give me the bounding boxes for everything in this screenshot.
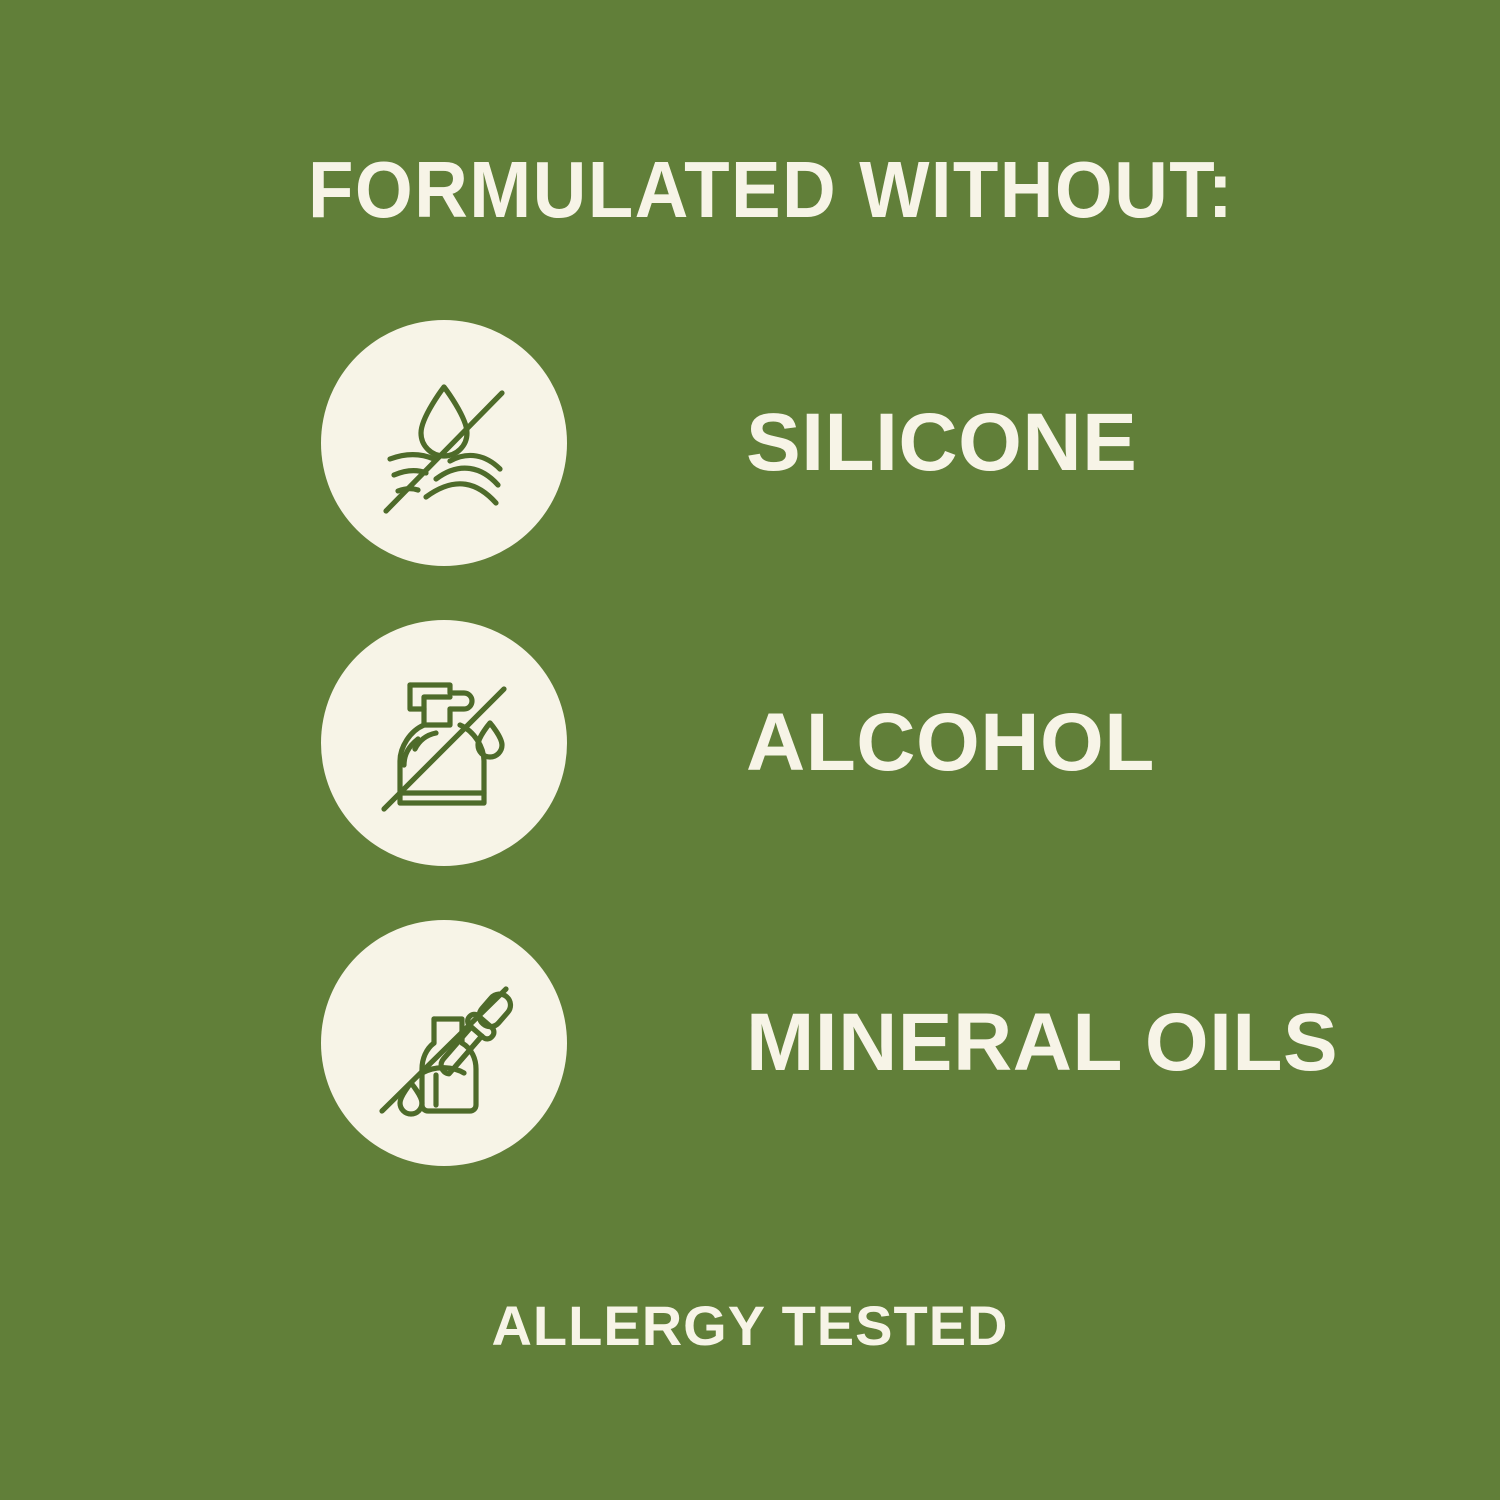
footer-allergy-tested: ALLERGY TESTED <box>0 1298 1500 1354</box>
list-item: MINERAL OILS <box>0 920 1500 1166</box>
list-item: SILICONE <box>0 320 1500 566</box>
list-item-label-silicone: SILICONE <box>746 402 1137 484</box>
badge-silicone <box>321 320 567 566</box>
list-item: ALCOHOL <box>0 620 1500 866</box>
formulated-without-panel: FORMULATED WITHOUT: <box>0 0 1500 1500</box>
list-item-label-mineral-oils: MINERAL OILS <box>746 1002 1338 1084</box>
no-mineral-oils-dropper-bottle-icon <box>364 963 524 1123</box>
badge-mineral-oils <box>321 920 567 1166</box>
no-alcohol-pump-bottle-icon <box>364 663 524 823</box>
list-item-label-alcohol: ALCOHOL <box>746 702 1155 784</box>
no-silicone-droplet-waves-icon <box>364 363 524 523</box>
page-title: FORMULATED WITHOUT: <box>308 150 1238 230</box>
badge-alcohol <box>321 620 567 866</box>
